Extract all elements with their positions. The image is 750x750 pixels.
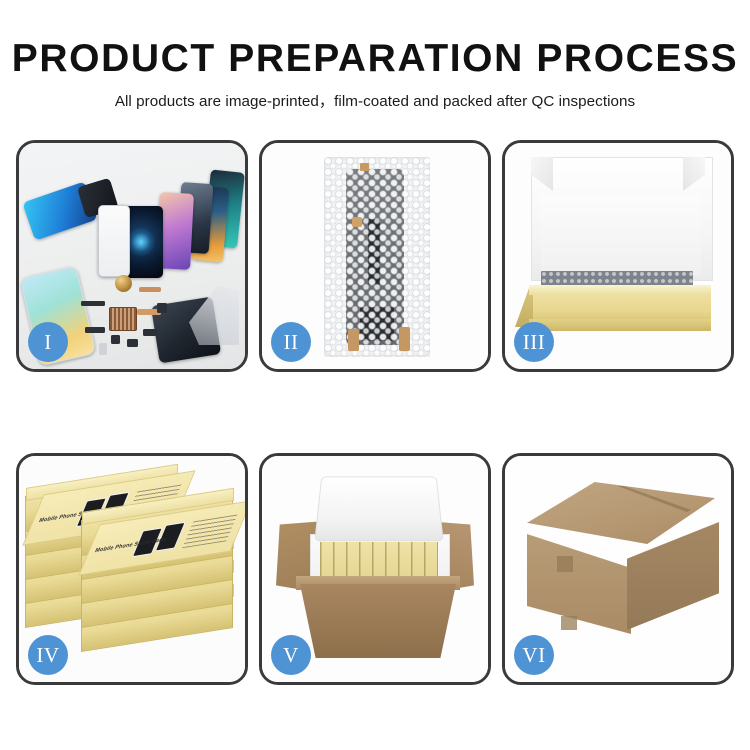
adhesive-film-icon — [22, 181, 97, 240]
carton-left-face — [527, 534, 631, 634]
styrofoam-lid — [314, 476, 443, 541]
carton-top-face — [527, 482, 715, 544]
step-panel-3: III — [502, 140, 734, 372]
step-panel-5: V — [259, 453, 491, 685]
bracket-part-icon — [127, 339, 138, 347]
glass-protector-icon — [98, 205, 130, 277]
camera-lens-icon — [115, 275, 132, 292]
box-spec-text-block — [182, 513, 238, 548]
carton-body — [300, 584, 456, 658]
step-panel-4: Mobile Phone Spare Parts Mobile Phone Sp… — [16, 453, 248, 685]
carton-tape-icon — [561, 616, 577, 630]
button-part-icon — [157, 303, 167, 313]
flex-cable-icon — [139, 287, 161, 292]
page-subtitle: All products are image-printed，film-coat… — [0, 89, 750, 111]
connector-part-icon — [81, 301, 105, 306]
step-badge-6: VI — [514, 635, 554, 675]
step-badge-4: IV — [28, 635, 68, 675]
small-parts-group — [81, 283, 191, 365]
process-steps-grid: I II — [16, 140, 734, 685]
box-window-phone-icon — [155, 522, 186, 552]
step-panel-1: I — [16, 140, 248, 372]
bracket-part-icon — [143, 329, 157, 336]
foam-sheet — [541, 195, 701, 275]
tape-piece-icon — [352, 217, 362, 227]
step-panel-6: VI — [502, 453, 734, 685]
step-badge-2: II — [271, 322, 311, 362]
tweezers-icon — [189, 285, 239, 345]
step-badge-3: III — [514, 322, 554, 362]
screw-part-icon — [111, 335, 120, 344]
tape-piece-icon — [360, 163, 369, 171]
yellow-box-front — [529, 319, 711, 331]
bubble-wrap-bag — [324, 157, 430, 357]
step-badge-1: I — [28, 322, 68, 362]
connector-part-icon — [85, 327, 105, 333]
sim-tray-icon — [99, 343, 107, 355]
step-badge-5: V — [271, 635, 311, 675]
product-preparation-process-page: PRODUCT PREPARATION PROCESS All products… — [0, 0, 750, 750]
carton-tape-icon — [557, 556, 573, 572]
page-header: PRODUCT PREPARATION PROCESS All products… — [0, 38, 750, 111]
box-stack: Mobile Phone Spare Parts Mobile Phone Sp… — [25, 474, 239, 664]
bubble-texture — [324, 157, 430, 357]
tape-piece-icon — [348, 329, 359, 351]
logic-board-icon — [109, 307, 137, 331]
tape-piece-icon — [399, 327, 410, 351]
step-panel-2: II — [259, 140, 491, 372]
page-title: PRODUCT PREPARATION PROCESS — [0, 38, 750, 80]
